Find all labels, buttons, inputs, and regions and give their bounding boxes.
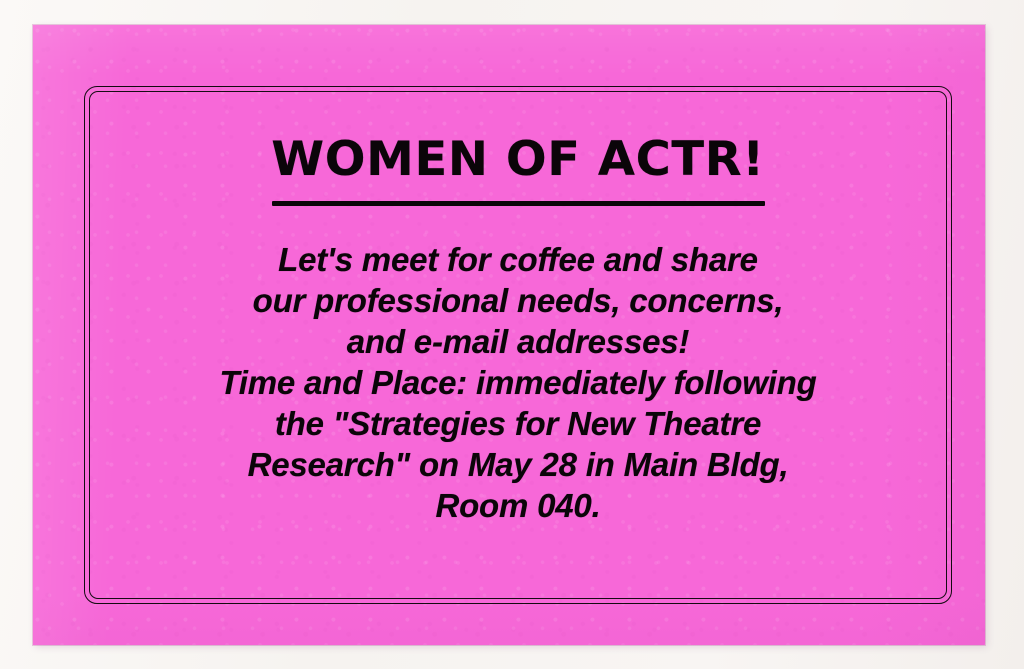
body-line: the "Strategies for New Theatre [89,403,947,444]
flyer-title-underline [272,201,765,206]
body-line: Time and Place: immediately following [89,362,947,403]
body-line: Room 040. [89,485,947,526]
body-line: Research" on May 28 in Main Bldg, [89,444,947,485]
body-line: our professional needs, concerns, [89,280,947,321]
flyer-body-text: Let's meet for coffee and share our prof… [89,239,947,526]
body-line: and e-mail addresses! [89,321,947,362]
body-line: Let's meet for coffee and share [89,239,947,280]
flyer-title: WOMEN OF ACTR! [80,136,955,183]
flyer-card: WOMEN OF ACTR! Let's meet for coffee and… [33,25,985,645]
flyer-content: WOMEN OF ACTR! Let's meet for coffee and… [89,91,947,599]
